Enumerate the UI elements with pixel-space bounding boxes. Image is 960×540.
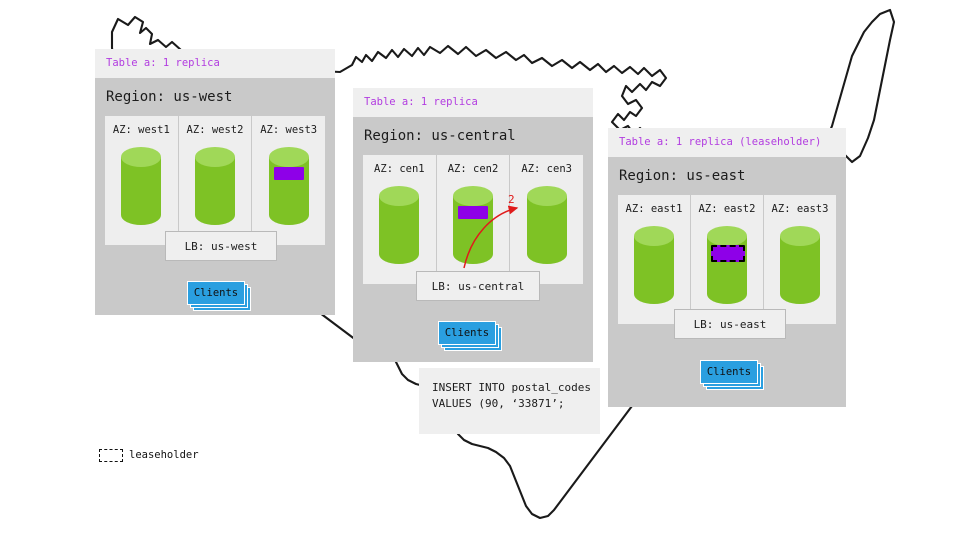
node-cylinder-west1 [119, 145, 163, 231]
node-cylinder-cen2 [451, 184, 495, 270]
az-west3[interactable]: AZ: west3 [251, 116, 325, 246]
az-label-cen2: AZ: cen2 [448, 164, 499, 175]
node-cylinder-west3 [267, 145, 311, 231]
az-label-west2: AZ: west2 [187, 125, 244, 136]
az-west1[interactable]: AZ: west1 [105, 116, 178, 246]
az-east1[interactable]: AZ: east1 [618, 195, 690, 325]
region-header-us-central: Table a: 1 replica [353, 88, 593, 117]
leaseholder-replica-marker-east2 [711, 245, 745, 262]
az-row-us-central: AZ: cen1 AZ: cen2 [363, 155, 583, 285]
az-label-east2: AZ: east2 [699, 204, 756, 215]
region-title-us-west: Region: us-west [95, 78, 335, 116]
legend-label: leaseholder [129, 450, 199, 461]
az-label-east3: AZ: east3 [772, 204, 829, 215]
load-balancer-us-central[interactable]: LB: us-central [416, 271, 540, 301]
region-title-us-central: Region: us-central [353, 117, 593, 155]
region-panel-us-east: Table a: 1 replica (leaseholder) Region:… [608, 128, 846, 407]
az-east2[interactable]: AZ: east2 [690, 195, 763, 325]
routing-arrow-label-2: 2 [508, 194, 515, 205]
replica-marker-west3 [274, 167, 304, 180]
node-cylinder-east3 [778, 224, 822, 310]
clients-sheet-front: Clients [187, 281, 245, 305]
clients-us-central[interactable]: Clients [438, 321, 496, 345]
clients-us-west[interactable]: Clients [187, 281, 245, 305]
az-label-west3: AZ: west3 [260, 125, 317, 136]
az-west2[interactable]: AZ: west2 [178, 116, 252, 246]
diagram-canvas: Table a: 1 replica Region: us-west AZ: w… [0, 0, 960, 540]
replica-marker-cen2 [458, 206, 488, 219]
region-panel-us-central: Table a: 1 replica Region: us-central AZ… [353, 88, 593, 362]
az-east3[interactable]: AZ: east3 [763, 195, 836, 325]
region-body-us-west: Region: us-west AZ: west1 AZ: west2 [95, 78, 335, 315]
node-cylinder-west2 [193, 145, 237, 231]
clients-us-east[interactable]: Clients [700, 360, 758, 384]
az-label-east1: AZ: east1 [626, 204, 683, 215]
sql-statement-note: INSERT INTO postal_codes VALUES (90, ‘33… [419, 368, 600, 434]
load-balancer-us-east[interactable]: LB: us-east [674, 309, 786, 339]
clients-sheet-front: Clients [700, 360, 758, 384]
az-cen3[interactable]: AZ: cen3 [509, 155, 583, 285]
clients-label-us-central: Clients [445, 328, 489, 339]
az-cen2[interactable]: AZ: cen2 [436, 155, 510, 285]
az-row-us-east: AZ: east1 AZ: east2 [618, 195, 836, 325]
az-label-cen3: AZ: cen3 [521, 164, 572, 175]
az-cen1[interactable]: AZ: cen1 [363, 155, 436, 285]
load-balancer-us-west[interactable]: LB: us-west [165, 231, 277, 261]
region-header-us-west: Table a: 1 replica [95, 49, 335, 78]
clients-sheet-front: Clients [438, 321, 496, 345]
region-header-us-east: Table a: 1 replica (leaseholder) [608, 128, 846, 157]
az-label-cen1: AZ: cen1 [374, 164, 425, 175]
node-cylinder-east2 [705, 224, 749, 310]
az-label-west1: AZ: west1 [113, 125, 170, 136]
region-panel-us-west: Table a: 1 replica Region: us-west AZ: w… [95, 49, 335, 315]
clients-label-us-east: Clients [707, 367, 751, 378]
node-cylinder-east1 [632, 224, 676, 310]
legend-leaseholder: leaseholder [99, 449, 199, 462]
az-row-us-west: AZ: west1 AZ: west2 [105, 116, 325, 246]
node-cylinder-cen1 [377, 184, 421, 270]
region-title-us-east: Region: us-east [608, 157, 846, 195]
leaseholder-swatch-icon [99, 449, 123, 462]
clients-label-us-west: Clients [194, 288, 238, 299]
node-cylinder-cen3 [525, 184, 569, 270]
